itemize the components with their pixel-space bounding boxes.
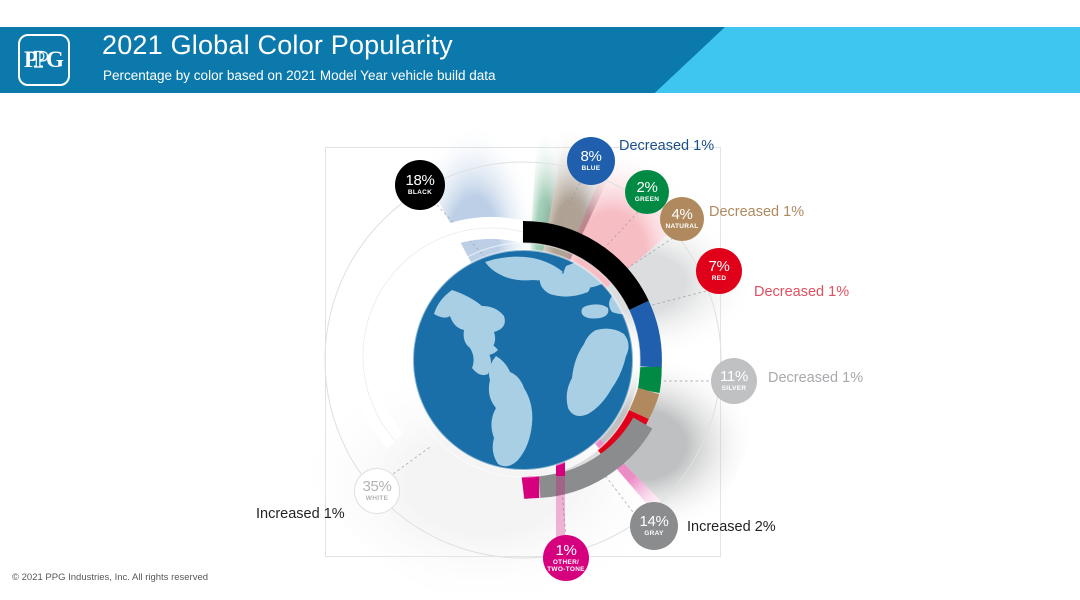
badge-other-two-tone[interactable]: 1% OTHER/ TWO-TONE — [543, 535, 589, 581]
badge-natural[interactable]: 4% NATURAL — [660, 197, 704, 241]
badge-other-percent: 1% — [555, 543, 576, 558]
badge-other-label: OTHER/ TWO-TONE — [543, 560, 589, 574]
badge-silver-label: SILVER — [722, 386, 747, 393]
change-label-natural: Decreased 1% — [709, 204, 804, 220]
badge-red-label: RED — [712, 276, 727, 283]
badge-silver[interactable]: 11% SILVER — [711, 358, 757, 404]
badge-gray-percent: 14% — [639, 514, 668, 529]
change-label-gray: Increased 2% — [687, 519, 776, 535]
ppg-logo-mark: P P G — [24, 47, 64, 73]
change-label-white: Increased 1% — [256, 506, 345, 522]
svg-text:G: G — [46, 47, 64, 72]
badge-red[interactable]: 7% RED — [696, 248, 742, 294]
badge-silver-percent: 11% — [720, 369, 748, 384]
badge-blue-percent: 8% — [580, 149, 601, 164]
badge-black-percent: 18% — [405, 173, 434, 188]
badge-gray-label: GRAY — [644, 531, 663, 538]
badge-red-percent: 7% — [708, 259, 729, 274]
badge-green-percent: 2% — [636, 180, 657, 195]
badge-black-label: BLACK — [408, 190, 432, 197]
badge-gray[interactable]: 14% GRAY — [630, 502, 678, 550]
badge-natural-percent: 4% — [671, 207, 692, 222]
badge-black[interactable]: 18% BLACK — [395, 160, 445, 210]
badge-blue-label: BLUE — [582, 166, 601, 173]
badge-blue[interactable]: 8% BLUE — [567, 137, 615, 185]
badge-natural-label: NATURAL — [665, 224, 698, 231]
page-title: 2021 Global Color Popularity — [102, 30, 453, 61]
badge-white[interactable]: 35% WHITE — [354, 468, 400, 514]
page-subtitle: Percentage by color based on 2021 Model … — [103, 68, 496, 83]
change-label-red: Decreased 1% — [754, 284, 849, 300]
badge-white-percent: 35% — [362, 479, 391, 494]
badge-white-label: WHITE — [366, 496, 388, 503]
badge-green-label: GREEN — [635, 197, 660, 204]
change-label-blue: Decreased 1% — [619, 138, 714, 154]
ppg-logo: P P G — [18, 34, 70, 86]
change-label-silver: Decreased 1% — [768, 370, 863, 386]
footer-copyright: © 2021 PPG Industries, Inc. All rights r… — [12, 572, 208, 583]
header-banner: P P G 2021 Global Color Popularity Perce… — [0, 27, 1080, 93]
